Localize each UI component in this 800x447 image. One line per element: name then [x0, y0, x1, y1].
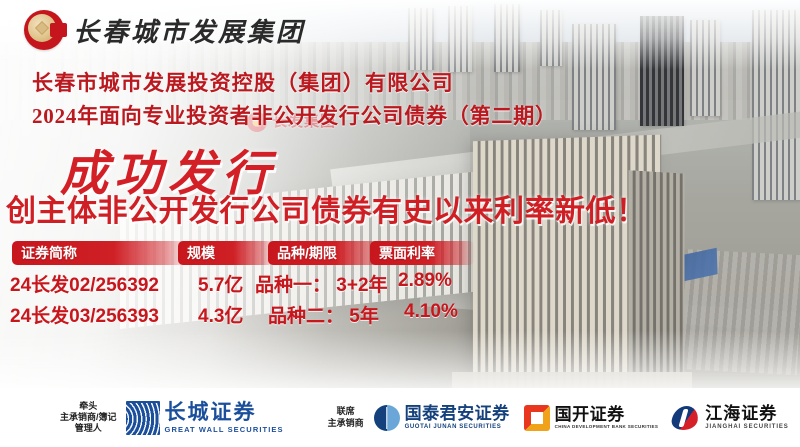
- brand-name: 长春城市发展集团: [73, 12, 305, 49]
- cell-size: 5.7亿: [198, 270, 243, 297]
- brand-lockup: 长春城市发展集团: [24, 10, 305, 50]
- cell-security-name: 24长发03/256393: [10, 301, 159, 328]
- bond-name-line: 2024年面向专业投资者非公开发行公司债券（第二期）: [32, 100, 557, 130]
- issuer-name-line: 长春市城市发展投资控股（集团）有限公司: [32, 67, 454, 97]
- great-wall-securities-logo-icon: [126, 401, 160, 435]
- joint-underwriters-group: 联席 主承销商 国泰君安证券 GUOTAI JUNAN SECURITIES 国…: [328, 405, 789, 431]
- joint-role-line-1: 联席: [328, 406, 364, 417]
- changchun-city-development-logo-icon: [24, 10, 64, 50]
- guotai-junan-name-cn: 国泰君安证券: [405, 405, 510, 422]
- table-row: 24长发02/256392 5.7亿 品种一： 3+2年 2.89%: [0, 268, 480, 299]
- great-wall-name-cn: 长城证券: [165, 402, 284, 423]
- jianghai-securities-logo-icon: [672, 405, 700, 431]
- cdb-securities-logo: 国开证券 CHINA DEVELOPMENT BANK SECURITIES: [524, 405, 659, 431]
- logo-diamond-icon: [35, 21, 49, 35]
- cdb-securities-logo-icon: [524, 405, 550, 431]
- lead-role-line-3: 管理人: [60, 423, 117, 434]
- lead-role-line-2: 主承销商/簿记: [60, 412, 117, 423]
- guotai-junan-securities-logo-icon: [374, 405, 400, 431]
- underwriters-footer: 牵头 主承销商/簿记 管理人 长城证券 GREAT WALL SECURITIE…: [0, 388, 800, 447]
- table-header-row: 证券简称 规模 品种/期限 票面利率: [0, 238, 480, 268]
- great-wall-securities-logo: 长城证券 GREAT WALL SECURITIES: [126, 401, 284, 435]
- column-header-security-name: 证券简称: [12, 241, 188, 265]
- great-wall-name-en: GREAT WALL SECURITIES: [165, 426, 284, 434]
- guotai-junan-name-en: GUOTAI JUNAN SECURITIES: [405, 424, 510, 430]
- bond-details-table: 证券简称 规模 品种/期限 票面利率 24长发02/256392 5.7亿 品种…: [0, 238, 480, 330]
- guotai-junan-securities-logo: 国泰君安证券 GUOTAI JUNAN SECURITIES: [374, 405, 510, 431]
- cdb-name-en: CHINA DEVELOPMENT BANK SECURITIES: [555, 425, 659, 430]
- column-header-coupon-rate: 票面利率: [370, 241, 474, 265]
- lead-role-line-1: 牵头: [60, 401, 117, 412]
- table-row: 24长发03/256393 4.3亿 品种二： 5年 4.10%: [0, 299, 480, 330]
- cdb-name-cn: 国开证券: [555, 406, 659, 423]
- jianghai-name-en: JIANGHAI SECURITIES: [705, 424, 788, 430]
- bond-issuance-poster: 长发集团 长春城市发展集团 长春市城市发展投资控股（集团）有限公司 2024年面…: [0, 0, 800, 447]
- cell-security-name: 24长发02/256392: [10, 270, 159, 297]
- cell-coupon-rate: 4.10%: [404, 301, 458, 323]
- joint-role-line-2: 主承销商: [328, 418, 364, 429]
- lead-underwriter-role: 牵头 主承销商/簿记 管理人: [60, 401, 117, 435]
- column-header-type-tenor: 品种/期限: [268, 241, 386, 265]
- joint-underwriter-role: 联席 主承销商: [328, 406, 364, 429]
- cell-type-tenor: 品种一： 3+2年: [255, 270, 388, 297]
- cell-type-tenor: 品种二： 5年: [268, 301, 379, 328]
- cell-size: 4.3亿: [198, 301, 243, 328]
- column-header-size: 规模: [178, 241, 274, 265]
- jianghai-name-cn: 江海证券: [705, 405, 788, 422]
- cell-coupon-rate: 2.89%: [398, 270, 452, 292]
- lead-underwriter-group: 牵头 主承销商/簿记 管理人 长城证券 GREAT WALL SECURITIE…: [60, 401, 284, 435]
- record-low-rate-subline: 创主体非公开发行公司债券有史以来利率新低！: [6, 186, 647, 230]
- jianghai-securities-logo: 江海证券 JIANGHAI SECURITIES: [672, 405, 788, 431]
